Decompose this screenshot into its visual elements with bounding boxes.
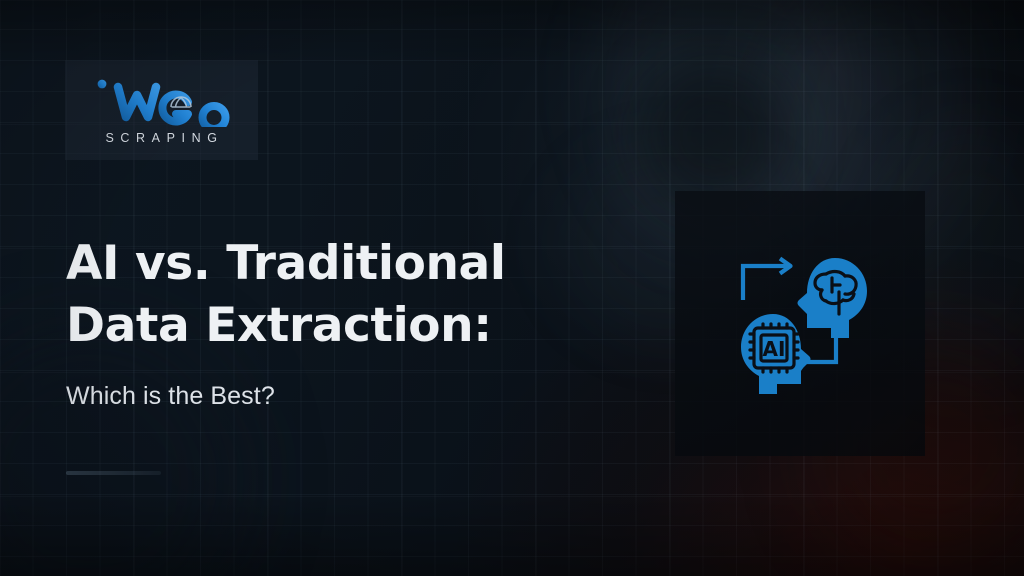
banner-canvas: SCRAPING AI vs. Traditional Data Extract… [0,0,1024,576]
brand-logo[interactable]: SCRAPING [65,60,258,160]
hero-copy: AI vs. Traditional Data Extraction: Whic… [66,233,586,411]
page-title: AI vs. Traditional Data Extraction: [66,233,586,357]
page-subtitle: Which is the Best? [66,382,586,411]
chip-ai-label: AI [763,337,786,361]
human-brain-head-icon [798,258,868,338]
background-blur-shape [719,0,1011,285]
logo-tagline: SCRAPING [99,131,223,145]
background-blur-shape [640,60,790,210]
background-blur-shape [870,120,1024,380]
ai-chip-head-icon: AI [741,314,811,394]
iweb-logomark-icon [92,75,232,127]
arrow-right-icon [743,259,791,301]
ai-vs-human-brain-exchange-icon: AI [735,252,875,400]
accent-divider [66,471,161,475]
background-blur-shape [600,0,860,250]
